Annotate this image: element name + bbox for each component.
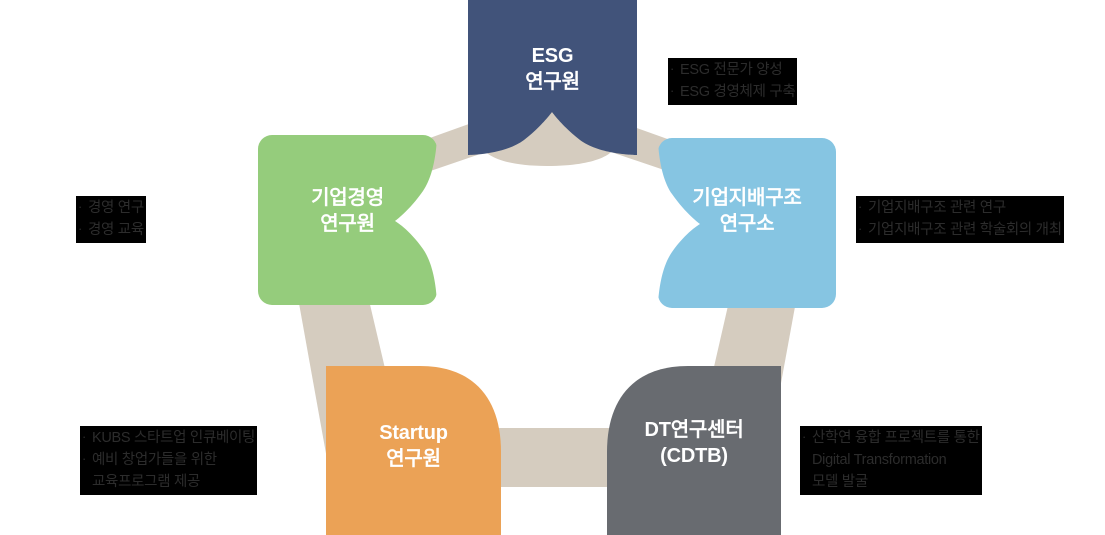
- callout-item: ·예비 창업가들을 위한 교육프로그램 제공: [81, 449, 255, 493]
- callout-esg: ·ESG 전문가 양성 ·ESG 경영체제 구축: [668, 58, 797, 105]
- callout-startup-list: ·KUBS 스타트업 인큐베이팅 ·예비 창업가들을 위한 교육프로그램 제공: [81, 427, 255, 493]
- bullet-icon: ·: [802, 427, 806, 447]
- bullet-icon: ·: [82, 449, 86, 469]
- callout-governance-list: ·기업지배구조 관련 연구 ·기업지배구조 관련 학술회의 개최: [857, 197, 1062, 241]
- callout-item: ·경영 연구: [77, 197, 144, 219]
- node-startup[interactable]: [326, 366, 501, 535]
- callout-item: ·기업지배구조 관련 연구: [857, 197, 1062, 219]
- callout-item: ·경영 교육: [77, 219, 144, 241]
- bullet-icon: ·: [858, 197, 862, 217]
- callout-item: ·ESG 전문가 양성: [669, 59, 795, 81]
- bullet-icon: ·: [858, 219, 862, 239]
- callout-dt: ·산학연 융합 프로젝트를 통한 Digital Transformation …: [800, 426, 982, 495]
- node-dt[interactable]: [607, 366, 781, 535]
- bullet-icon: ·: [78, 219, 82, 239]
- diagram-canvas: ESG 연구원 기업지배구조 연구소 기업경영 연구원 Startup 연구원 …: [0, 0, 1105, 535]
- callout-item: ·기업지배구조 관련 학술회의 개최: [857, 219, 1062, 241]
- callout-item: ·KUBS 스타트업 인큐베이팅: [81, 427, 255, 449]
- callout-item: ·산학연 융합 프로젝트를 통한 Digital Transformation …: [801, 427, 980, 493]
- bullet-icon: ·: [670, 59, 674, 79]
- callout-management-list: ·경영 연구 ·경영 교육: [77, 197, 144, 241]
- callout-startup: ·KUBS 스타트업 인큐베이팅 ·예비 창업가들을 위한 교육프로그램 제공: [80, 426, 257, 495]
- callout-esg-list: ·ESG 전문가 양성 ·ESG 경영체제 구축: [669, 59, 795, 103]
- callout-item: ·ESG 경영체제 구축: [669, 81, 795, 103]
- callout-governance: ·기업지배구조 관련 연구 ·기업지배구조 관련 학술회의 개최: [856, 196, 1064, 243]
- callout-management: ·경영 연구 ·경영 교육: [76, 196, 146, 243]
- bullet-icon: ·: [82, 427, 86, 447]
- bullet-icon: ·: [670, 81, 674, 101]
- bullet-icon: ·: [78, 197, 82, 217]
- callout-dt-list: ·산학연 융합 프로젝트를 통한 Digital Transformation …: [801, 427, 980, 493]
